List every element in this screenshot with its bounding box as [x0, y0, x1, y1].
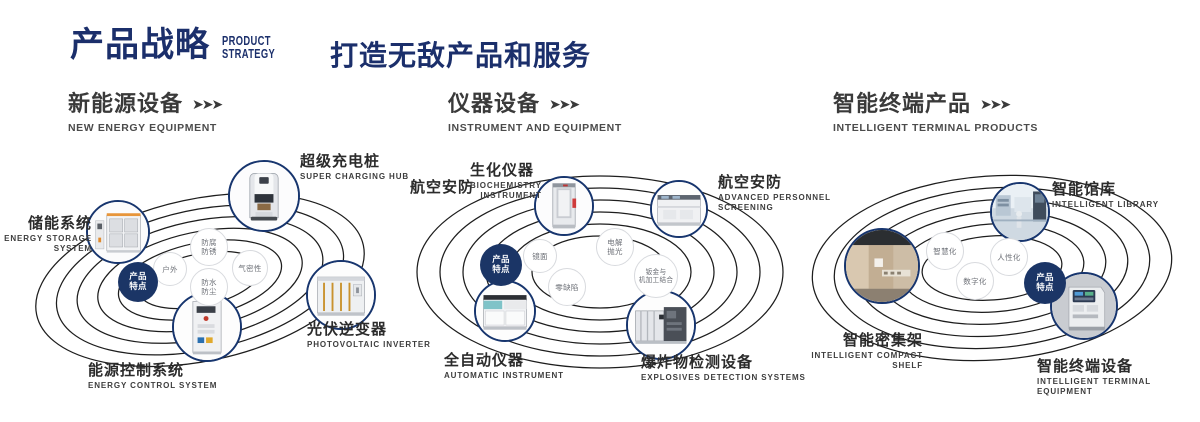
section-title-cn: 新能源设备 ➤➤➤ [68, 92, 221, 118]
feature-label: 镜面 [532, 252, 548, 261]
node-intelligent-compact-shelf[interactable] [844, 228, 920, 304]
label-energy-control-system: 能源控制系统 ENERGY CONTROL SYSTEM [88, 361, 217, 391]
label-cn: 航空安防 [410, 178, 474, 196]
product-strategy-infographic: 产品战略 PRODUCT STRATEGY 打造无敌产品和服务 新能源设备 ➤➤… [0, 0, 1200, 422]
section-title-en: INTELLIGENT TERMINAL PRODUCTS [833, 122, 1038, 134]
label-automatic-instrument: 全自动仪器 AUTOMATIC INSTRUMENT [444, 351, 564, 381]
section-header-instrument: 仪器设备 ➤➤➤ INSTRUMENT AND EQUIPMENT [448, 92, 622, 134]
node-intelligent-library[interactable] [990, 182, 1050, 242]
label-en: EXPLOSIVES DETECTION SYSTEMS [641, 373, 806, 383]
feature-label: 户外 [162, 265, 178, 274]
node-explosives-detector[interactable] [626, 290, 696, 360]
intelligent-library-photo [992, 184, 1048, 240]
section-header-new-energy: 新能源设备 ➤➤➤ NEW ENERGY EQUIPMENT [68, 92, 221, 134]
explosives-detector-photo [628, 292, 694, 358]
label-intelligent-terminal-equipment: 智能终端设备 INTELLIGENT TERMINAL EQUIPMENT [1037, 357, 1200, 397]
node-super-charging-hub[interactable] [228, 160, 300, 232]
page-subtitle: 打造无敌产品和服务 [330, 34, 591, 74]
feature-label: 防腐 防锈 [201, 238, 217, 256]
section-title-text: 仪器设备 [448, 92, 540, 118]
label-en: INTELLIGENT LIBRARY [1052, 200, 1159, 210]
personnel-screening-photo [652, 182, 706, 236]
core-label-line2: 特点 [492, 265, 510, 275]
label-en: INTELLIGENT COMPACT SHELF [790, 351, 923, 371]
label-cn: 智能馆库 [1052, 180, 1159, 198]
section-title-text: 新能源设备 [68, 92, 183, 118]
feature-label: 钣金与 机加工结合 [639, 268, 673, 284]
feature-label: 数字化 [963, 277, 986, 286]
feature-label: 防水 防尘 [201, 278, 217, 296]
super-charging-hub-photo [230, 162, 298, 230]
feature-label: 气密性 [238, 264, 261, 273]
feature-bubble: 气密性 [232, 250, 268, 286]
automatic-instrument-photo [476, 282, 534, 340]
node-automatic-instrument[interactable] [474, 280, 536, 342]
section-title-text: 智能终端产品 [833, 92, 971, 118]
feature-bubble: 户外 [153, 252, 187, 286]
label-en: ENERGY STORAGE SYSTEM [0, 234, 92, 254]
core-bubble-product-features: 产品 特点 [1024, 262, 1066, 304]
feature-bubble: 零缺陷 [548, 268, 586, 306]
chevrons-right-icon: ➤➤➤ [549, 92, 578, 118]
core-label-line1: 产品 [492, 255, 510, 265]
core-label-line2: 特点 [129, 282, 147, 292]
feature-bubble: 电解 抛光 [596, 228, 634, 266]
feature-label: 电解 抛光 [607, 238, 623, 256]
feature-bubble: 人性化 [990, 238, 1028, 276]
page-title-en-line2: STRATEGY [222, 47, 275, 60]
feature-bubble: 镜面 [523, 239, 557, 273]
section-header-intelligent-terminal: 智能终端产品 ➤➤➤ INTELLIGENT TERMINAL PRODUCTS [833, 92, 1038, 134]
page-title-cn: 产品战略 [70, 28, 210, 62]
label-en: AUTOMATIC INSTRUMENT [444, 371, 564, 381]
label-cn: 能源控制系统 [88, 361, 217, 379]
label-super-charging-hub: 超级充电桩 SUPER CHARGING HUB [300, 152, 409, 182]
label-energy-storage-system: 储能系统 ENERGY STORAGE SYSTEM [0, 214, 92, 254]
energy-storage-cabinet-photo [88, 202, 148, 262]
label-en: INTELLIGENT TERMINAL EQUIPMENT [1037, 377, 1200, 397]
feature-bubble: 防水 防尘 [190, 268, 228, 306]
label-aviation-security-left: 航空安防 [410, 178, 474, 196]
label-cn: 智能密集架 [790, 331, 923, 349]
feature-label: 智慧化 [933, 247, 956, 256]
feature-bubble: 数字化 [956, 262, 994, 300]
core-label-line1: 产品 [1036, 273, 1054, 283]
label-intelligent-library: 智能馆库 INTELLIGENT LIBRARY [1052, 180, 1159, 210]
feature-label: 零缺陷 [555, 283, 578, 292]
node-energy-storage-system[interactable] [86, 200, 150, 264]
label-cn: 生化仪器 [470, 161, 542, 179]
biochemistry-instrument-photo [536, 178, 592, 234]
photovoltaic-inverter-photo [308, 262, 374, 328]
core-label-line1: 产品 [129, 272, 147, 282]
label-cn: 超级充电桩 [300, 152, 409, 170]
feature-bubble: 防腐 防锈 [190, 228, 228, 266]
core-bubble-product-features: 产品 特点 [118, 262, 158, 302]
label-biochemistry-instrument: 生化仪器 BIOCHEMISTRY INSTRUMENT [470, 161, 542, 201]
label-explosives-detection: 爆炸物检测设备 EXPLOSIVES DETECTION SYSTEMS [641, 353, 806, 383]
core-label-line2: 特点 [1036, 283, 1054, 293]
chevrons-right-icon: ➤➤➤ [192, 92, 221, 118]
section-title-en: INSTRUMENT AND EQUIPMENT [448, 122, 622, 134]
section-title-en: NEW ENERGY EQUIPMENT [68, 122, 221, 134]
label-cn: 储能系统 [0, 214, 92, 232]
label-en: SUPER CHARGING HUB [300, 172, 409, 182]
feature-label: 人性化 [997, 253, 1020, 262]
feature-bubble: 钣金与 机加工结合 [634, 254, 678, 298]
label-cn: 全自动仪器 [444, 351, 564, 369]
label-en: ENERGY CONTROL SYSTEM [88, 381, 217, 391]
label-en: BIOCHEMISTRY INSTRUMENT [470, 181, 542, 201]
page-title: 产品战略 PRODUCT STRATEGY [70, 28, 296, 62]
node-personnel-screening[interactable] [650, 180, 708, 238]
label-cn: 智能终端设备 [1037, 357, 1200, 375]
core-bubble-product-features: 产品 特点 [480, 244, 522, 286]
node-biochemistry-instrument[interactable] [534, 176, 594, 236]
label-intelligent-compact-shelf: 智能密集架 INTELLIGENT COMPACT SHELF [790, 331, 923, 371]
section-title-cn: 智能终端产品 ➤➤➤ [833, 92, 1038, 118]
feature-bubble: 智慧化 [926, 232, 964, 270]
compact-shelf-photo [846, 230, 918, 302]
label-cn: 爆炸物检测设备 [641, 353, 806, 371]
chevrons-right-icon: ➤➤➤ [980, 92, 1009, 118]
section-title-cn: 仪器设备 ➤➤➤ [448, 92, 622, 118]
page-title-en: PRODUCT STRATEGY [222, 34, 275, 60]
